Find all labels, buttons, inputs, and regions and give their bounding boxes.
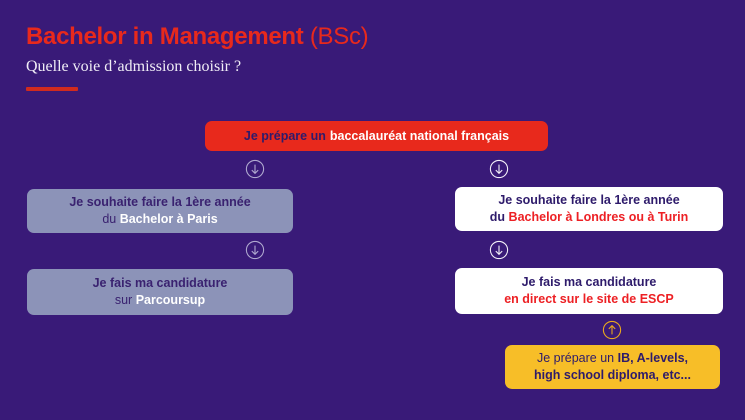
flow-node-international-diplomas: Je prépare un IB, A-levels, high school … xyxy=(505,345,720,389)
right-step2-line1: Je fais ma candidature xyxy=(522,274,657,291)
left-step1-line2: du Bachelor à Paris xyxy=(102,211,217,228)
left-step2-line2: sur Parcoursup xyxy=(115,292,205,309)
arrow-up-circle-icon xyxy=(602,320,622,340)
left-step2-line2-lead: sur xyxy=(115,293,132,307)
flow-node-right-bachelor-londres-turin: Je souhaite faire la 1ère année du Bache… xyxy=(455,187,723,231)
left-step2-line1: Je fais ma candidature xyxy=(93,275,228,292)
yellow-line1-emphasis: IB, A-levels, xyxy=(618,351,688,365)
left-step2-line2-emphasis: Parcoursup xyxy=(136,293,205,307)
left-step1-line2-emphasis: Bachelor à Paris xyxy=(120,212,218,226)
arrow-down-circle-icon-right-1 xyxy=(489,159,509,179)
flow-node-right-direct-escp: Je fais ma candidature en direct sur le … xyxy=(455,268,723,314)
right-step1-line2: du Bachelor à Londres ou à Turin xyxy=(490,209,688,226)
start-node-lead: Je prépare un xyxy=(244,128,326,145)
arrow-down-circle-icon-left-1 xyxy=(245,159,265,179)
yellow-line1-lead: Je prépare un xyxy=(537,351,614,365)
right-step1-line2-lead: du xyxy=(490,210,505,224)
right-step1-line2-emphasis: Bachelor à Londres ou à Turin xyxy=(509,210,689,224)
flow-node-left-parcoursup: Je fais ma candidature sur Parcoursup xyxy=(27,269,293,315)
admission-flow-diagram: Je prépare un baccalauréat national fran… xyxy=(0,0,745,420)
left-step1-line1: Je souhaite faire la 1ère année xyxy=(69,194,250,211)
left-step1-line2-lead: du xyxy=(102,212,116,226)
arrow-down-circle-icon-right-2 xyxy=(489,240,509,260)
arrow-down-circle-icon-left-2 xyxy=(245,240,265,260)
infographic-page: Bachelor in Management (BSc) Quelle voie… xyxy=(0,0,745,420)
yellow-line2: high school diploma, etc... xyxy=(534,367,691,384)
flow-node-start-french-bac: Je prépare un baccalauréat national fran… xyxy=(205,121,548,151)
yellow-line1: Je prépare un IB, A-levels, xyxy=(537,350,688,367)
flow-node-left-bachelor-paris: Je souhaite faire la 1ère année du Bache… xyxy=(27,189,293,233)
right-step2-line2: en direct sur le site de ESCP xyxy=(504,291,674,308)
start-node-emphasis: baccalauréat national français xyxy=(330,128,509,145)
right-step1-line1: Je souhaite faire la 1ère année xyxy=(498,192,679,209)
